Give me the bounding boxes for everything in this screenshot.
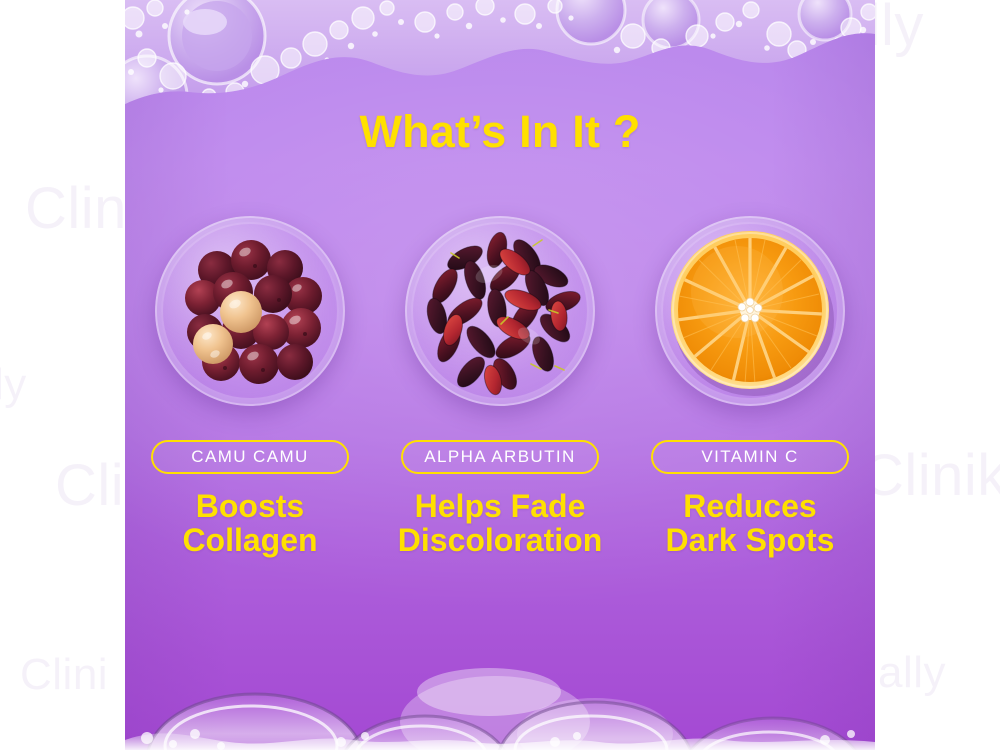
orange-slice-icon bbox=[655, 216, 845, 406]
page-title: What’s In It ? bbox=[125, 106, 875, 158]
ingredient-pill-vitamin-c[interactable]: VITAMIN C bbox=[651, 440, 849, 474]
watermark-text: Clini bbox=[20, 650, 108, 700]
watermark-text: ly bbox=[0, 360, 27, 410]
page-canvas: ClinikallyClinikallyClinikallylyClinikal… bbox=[0, 0, 1000, 750]
mulberries-icon bbox=[405, 216, 595, 406]
ingredient-column-camu-camu: CAMU CAMU Boosts Collagen bbox=[125, 216, 375, 558]
ingredient-pill-camu-camu[interactable]: CAMU CAMU bbox=[151, 440, 349, 474]
ingredient-columns: CAMU CAMU Boosts Collagen bbox=[125, 216, 875, 558]
benefit-text-camu-camu: Boosts Collagen bbox=[182, 490, 317, 558]
promo-panel: What’s In It ? bbox=[125, 0, 875, 750]
petri-dish-orange bbox=[655, 216, 845, 406]
camu-camu-berries-icon bbox=[155, 216, 345, 406]
top-foam-decoration bbox=[125, 0, 875, 120]
petri-dish-mulberries bbox=[405, 216, 595, 406]
benefit-text-alpha-arbutin: Helps Fade Discoloration bbox=[398, 490, 602, 558]
ingredient-pill-alpha-arbutin[interactable]: ALPHA ARBUTIN bbox=[401, 440, 599, 474]
petri-dish-camu-camu bbox=[155, 216, 345, 406]
bottom-bubbles-decoration bbox=[125, 630, 875, 750]
watermark-text: Clinikally bbox=[862, 442, 1000, 509]
ingredient-column-alpha-arbutin: ALPHA ARBUTIN Helps Fade Discoloration bbox=[375, 216, 625, 558]
benefit-text-vitamin-c: Reduces Dark Spots bbox=[666, 490, 835, 558]
watermark-text: ally bbox=[878, 648, 946, 698]
ingredient-column-vitamin-c: VITAMIN C Reduces Dark Spots bbox=[625, 216, 875, 558]
